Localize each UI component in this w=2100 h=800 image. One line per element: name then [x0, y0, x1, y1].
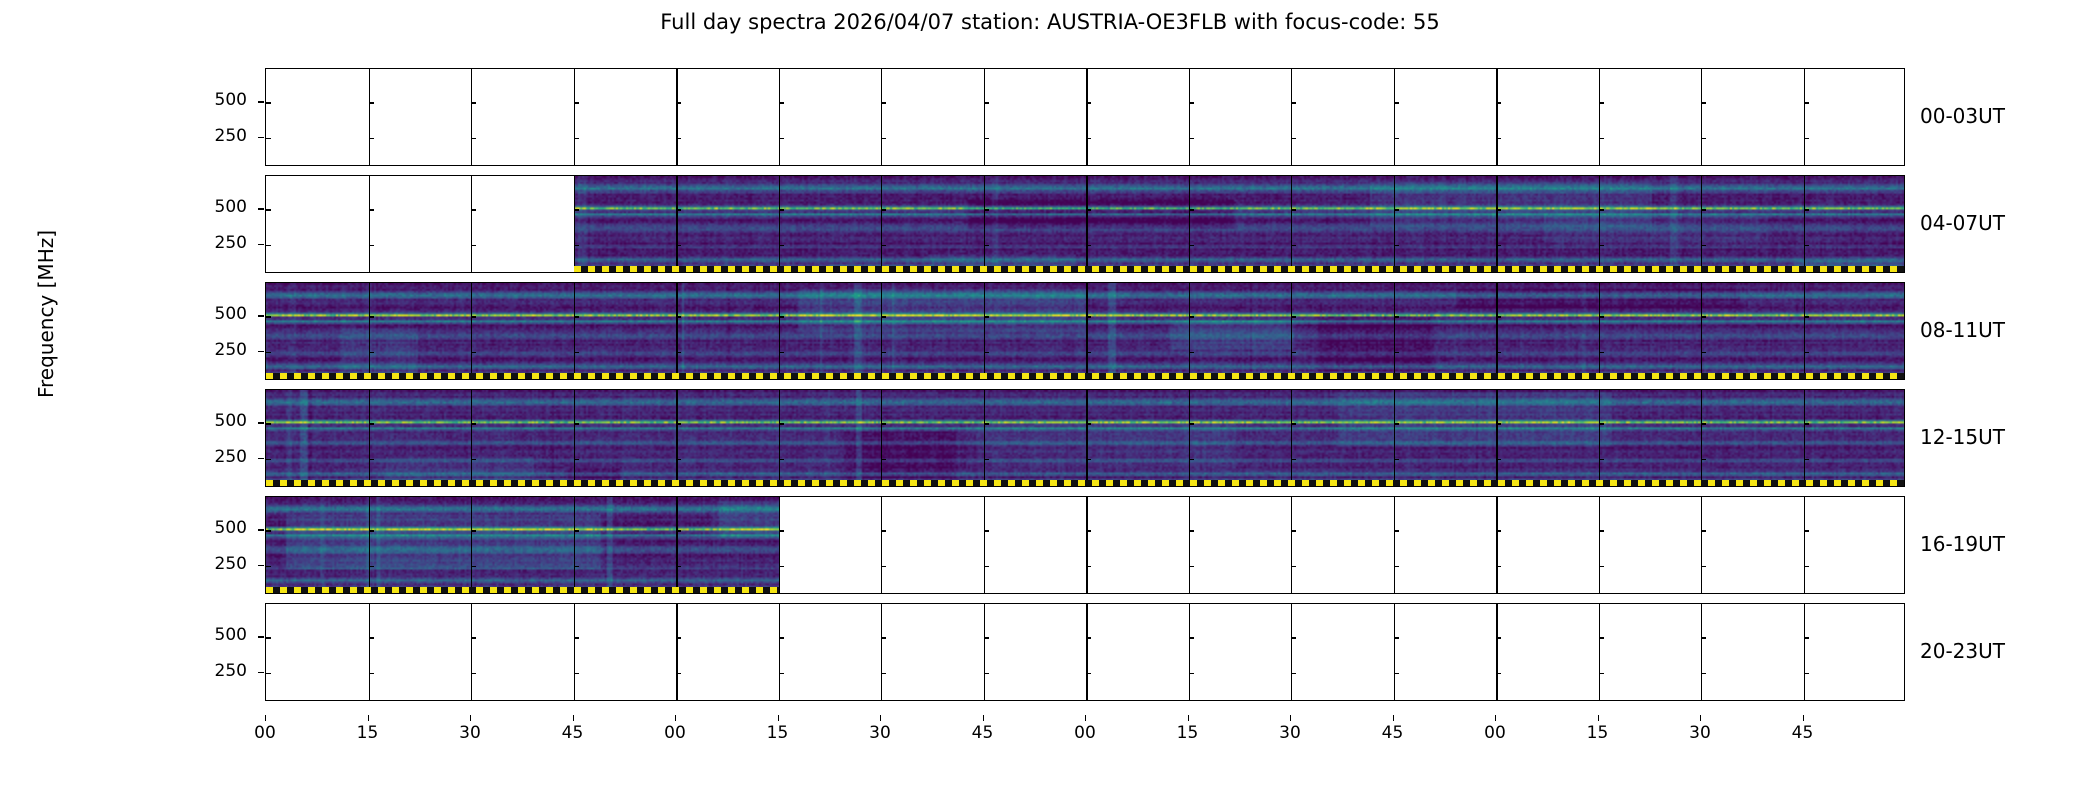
subpanel-separator [1189, 69, 1190, 165]
y-tick-mark [984, 459, 989, 460]
x-axis: 00153045001530450015304500153045 [265, 715, 1905, 755]
subpanel-separator [779, 390, 780, 486]
subpanel-separator [1086, 497, 1088, 593]
subpanel-separator [1291, 283, 1292, 379]
subpanel-separator [1804, 390, 1805, 486]
y-tick-mark [1394, 209, 1399, 210]
spectrogram-row-08-11ut [265, 282, 1905, 380]
subpanel-separator [1394, 604, 1395, 700]
y-tick-label: 250 [187, 340, 247, 360]
y-tick-mark [984, 138, 989, 139]
subpanel-separator [1599, 283, 1600, 379]
y-tick-mark [1496, 530, 1501, 531]
y-tick-mark [369, 423, 374, 424]
y-tick-mark [574, 316, 579, 317]
page-title: Full day spectra 2026/04/07 station: AUS… [0, 10, 2100, 34]
x-tick-mark [368, 715, 369, 721]
subpanel-separator [1701, 176, 1702, 272]
subpanel-separator [881, 497, 882, 593]
y-tick-mark [1086, 102, 1091, 103]
y-tick-mark [1291, 459, 1296, 460]
subpanel-separator [1291, 497, 1292, 593]
y-tick-mark [471, 138, 476, 139]
row-label-04-07ut: 04-07UT [1920, 211, 2005, 235]
y-tick-mark [1804, 138, 1809, 139]
subpanel-separator [1599, 497, 1600, 593]
subpanel-separator [1189, 283, 1190, 379]
subpanel-separator [676, 497, 678, 593]
y-axis-label: Frequency [MHz] [34, 174, 58, 454]
y-tick-mark [266, 673, 271, 674]
y-tick-mark [1701, 673, 1706, 674]
y-tick-mark [1086, 352, 1091, 353]
y-tick-mark [1599, 245, 1604, 246]
y-tick-mark [1394, 245, 1399, 246]
y-tick-mark [1086, 423, 1091, 424]
y-tick-mark [574, 102, 579, 103]
subpanel-separator [1804, 176, 1805, 272]
y-tick-mark [266, 138, 271, 139]
subpanel-separator [881, 390, 882, 486]
y-tick-label: 250 [187, 661, 247, 681]
data-coverage-dashed-strip [574, 266, 1906, 272]
y-tick-mark [1599, 459, 1604, 460]
data-coverage-dashed-strip [266, 480, 1905, 486]
y-tick-mark [881, 459, 886, 460]
subpanel-separator [881, 283, 882, 379]
subpanel-separator [1701, 283, 1702, 379]
y-tick-mark [1291, 352, 1296, 353]
y-tick-mark [1496, 673, 1501, 674]
subpanel-separator [369, 604, 370, 700]
subpanel-separator [984, 604, 985, 700]
x-tick-mark [265, 715, 266, 721]
y-tick-mark [984, 566, 989, 567]
spectrogram-figure: Full day spectra 2026/04/07 station: AUS… [0, 0, 2100, 800]
subpanel-separator [1394, 283, 1395, 379]
subpanel-separator [1189, 497, 1190, 593]
y-tick-mark [1804, 566, 1809, 567]
subpanel-separator [1189, 604, 1190, 700]
subpanel-separator [1496, 283, 1498, 379]
x-tick-label: 45 [1373, 723, 1413, 743]
y-tick-mark [1291, 102, 1296, 103]
subpanel-separator [779, 69, 780, 165]
y-tick-mark [1496, 138, 1501, 139]
subpanel-separator [779, 497, 780, 593]
y-tick-mark [1189, 209, 1194, 210]
subpanel-separator [1291, 604, 1292, 700]
y-tick-mark [1394, 102, 1399, 103]
subpanel-separator [1394, 497, 1395, 593]
y-tick-mark [1701, 245, 1706, 246]
y-tick-mark [881, 102, 886, 103]
y-tick-mark [881, 530, 886, 531]
y-tick-mark [779, 530, 784, 531]
subpanel-separator [574, 390, 575, 486]
y-tick-dash [258, 244, 264, 245]
y-tick-mark [1291, 530, 1296, 531]
x-tick-mark [1393, 715, 1394, 721]
subpanel-separator [1394, 69, 1395, 165]
y-tick-mark [676, 102, 681, 103]
x-tick-label: 30 [1270, 723, 1310, 743]
subpanel-separator [881, 604, 882, 700]
subpanel-separator [1804, 69, 1805, 165]
y-tick-mark [266, 245, 271, 246]
y-tick-mark [1599, 352, 1604, 353]
y-tick-mark [1599, 566, 1604, 567]
y-tick-mark [1599, 423, 1604, 424]
y-tick-dash [258, 351, 264, 352]
subpanel-separator [369, 176, 370, 272]
y-tick-mark [779, 102, 784, 103]
y-tick-mark [676, 459, 681, 460]
subpanel-separator [471, 283, 472, 379]
y-tick-mark [984, 673, 989, 674]
y-tick-mark [676, 566, 681, 567]
subpanel-separator [1701, 604, 1702, 700]
y-tick-mark [984, 245, 989, 246]
y-tick-mark [369, 530, 374, 531]
subpanel-separator [1394, 176, 1395, 272]
subpanel-separator [1804, 604, 1805, 700]
y-tick-label: 250 [187, 554, 247, 574]
x-tick-label: 30 [860, 723, 900, 743]
spectrogram-row-00-03ut [265, 68, 1905, 166]
y-tick-label: 250 [187, 233, 247, 253]
y-tick-mark [369, 352, 374, 353]
subpanel-separator [471, 604, 472, 700]
y-tick-mark [1394, 423, 1399, 424]
y-tick-mark [779, 566, 784, 567]
y-tick-mark [881, 423, 886, 424]
y-tick-mark [471, 673, 476, 674]
subpanel-separator [1701, 69, 1702, 165]
subpanel-separator [779, 283, 780, 379]
y-tick-mark [1394, 566, 1399, 567]
y-tick-mark [1291, 423, 1296, 424]
y-tick-mark [984, 637, 989, 638]
x-tick-label: 15 [758, 723, 798, 743]
y-tick-label: 500 [187, 197, 247, 217]
y-tick-dash [258, 208, 264, 209]
y-tick-mark [1291, 566, 1296, 567]
subpanel-separator [471, 497, 472, 593]
x-tick-label: 45 [1783, 723, 1823, 743]
subpanel-separator [574, 604, 575, 700]
y-tick-mark [266, 637, 271, 638]
y-tick-mark [1394, 637, 1399, 638]
y-tick-mark [779, 316, 784, 317]
subpanel-separator [1496, 69, 1498, 165]
y-tick-mark [471, 459, 476, 460]
y-tick-mark [881, 245, 886, 246]
y-tick-mark [1804, 459, 1809, 460]
y-tick-mark [574, 138, 579, 139]
spectrogram-row-16-19ut [265, 496, 1905, 594]
subpanel-separator [1086, 283, 1088, 379]
y-tick-mark [574, 245, 579, 246]
subpanel-separator [984, 283, 985, 379]
y-tick-mark [471, 637, 476, 638]
y-tick-mark [369, 459, 374, 460]
y-tick-mark [984, 530, 989, 531]
y-tick-mark [676, 423, 681, 424]
subpanel-separator [1291, 69, 1292, 165]
y-tick-mark [881, 566, 886, 567]
y-tick-mark [984, 352, 989, 353]
y-tick-mark [881, 673, 886, 674]
y-tick-mark [471, 530, 476, 531]
subpanel-separator [574, 497, 575, 593]
y-tick-mark [984, 316, 989, 317]
y-tick-mark [1701, 637, 1706, 638]
x-tick-mark [1803, 715, 1804, 721]
y-tick-mark [1701, 459, 1706, 460]
subpanel-separator [471, 176, 472, 272]
subpanel-separator [984, 69, 985, 165]
spectrogram-row-04-07ut [265, 175, 1905, 273]
y-tick-mark [676, 209, 681, 210]
subpanel-separator [1496, 390, 1498, 486]
x-tick-label: 15 [1168, 723, 1208, 743]
y-tick-mark [1086, 459, 1091, 460]
y-tick-mark [779, 423, 784, 424]
y-tick-mark [676, 637, 681, 638]
y-tick-mark [471, 209, 476, 210]
y-tick-mark [1804, 102, 1809, 103]
subpanel-separator [1086, 176, 1088, 272]
y-tick-mark [574, 637, 579, 638]
y-tick-label: 500 [187, 304, 247, 324]
y-tick-mark [369, 209, 374, 210]
y-tick-mark [1189, 566, 1194, 567]
y-tick-dash [258, 137, 264, 138]
subpanel-separator [1189, 390, 1190, 486]
y-tick-mark [1804, 352, 1809, 353]
spectra-canvas [574, 176, 1906, 272]
subpanel-separator [1599, 69, 1600, 165]
y-tick-mark [1189, 316, 1194, 317]
y-tick-mark [1086, 673, 1091, 674]
y-tick-mark [1701, 352, 1706, 353]
row-label-00-03ut: 00-03UT [1920, 104, 2005, 128]
subpanel-separator [574, 69, 575, 165]
y-tick-mark [1701, 566, 1706, 567]
y-tick-mark [1394, 673, 1399, 674]
y-tick-mark [1394, 459, 1399, 460]
y-tick-mark [574, 566, 579, 567]
y-tick-dash [258, 315, 264, 316]
y-tick-mark [574, 209, 579, 210]
y-tick-mark [1701, 530, 1706, 531]
y-tick-mark [369, 566, 374, 567]
x-tick-label: 45 [553, 723, 593, 743]
y-tick-mark [1496, 209, 1501, 210]
x-tick-mark [1290, 715, 1291, 721]
y-tick-mark [779, 637, 784, 638]
y-tick-mark [471, 423, 476, 424]
x-tick-mark [470, 715, 471, 721]
y-tick-mark [1599, 530, 1604, 531]
y-tick-mark [676, 352, 681, 353]
y-tick-mark [1804, 209, 1809, 210]
y-tick-mark [369, 245, 374, 246]
y-tick-mark [1086, 316, 1091, 317]
subpanel-separator [881, 69, 882, 165]
x-tick-mark [1598, 715, 1599, 721]
y-tick-mark [1599, 316, 1604, 317]
y-tick-dash [258, 422, 264, 423]
x-tick-label: 15 [1578, 723, 1618, 743]
y-tick-mark [369, 102, 374, 103]
y-tick-mark [369, 637, 374, 638]
y-tick-mark [1086, 209, 1091, 210]
subpanel-separator [1701, 497, 1702, 593]
y-tick-mark [1804, 245, 1809, 246]
subpanel-separator [1599, 604, 1600, 700]
y-tick-dash [258, 565, 264, 566]
y-tick-mark [471, 245, 476, 246]
subpanel-separator [471, 390, 472, 486]
y-tick-mark [574, 423, 579, 424]
y-tick-mark [779, 352, 784, 353]
subpanel-separator [676, 390, 678, 486]
subpanel-separator [676, 283, 678, 379]
subpanel-separator [1804, 283, 1805, 379]
subpanel-separator [369, 283, 370, 379]
y-tick-label: 250 [187, 126, 247, 146]
x-tick-label: 45 [963, 723, 1003, 743]
row-label-20-23ut: 20-23UT [1920, 639, 2005, 663]
y-tick-mark [1291, 138, 1296, 139]
subpanel-separator [1291, 176, 1292, 272]
y-tick-mark [1496, 423, 1501, 424]
y-tick-mark [881, 209, 886, 210]
y-tick-mark [1394, 352, 1399, 353]
y-tick-mark [1189, 459, 1194, 460]
y-tick-mark [1496, 102, 1501, 103]
y-tick-mark [779, 209, 784, 210]
spectra-canvas [266, 497, 779, 593]
y-tick-mark [1086, 530, 1091, 531]
subpanel-separator [369, 390, 370, 486]
y-tick-mark [471, 352, 476, 353]
y-tick-mark [1804, 316, 1809, 317]
y-tick-mark [676, 316, 681, 317]
y-tick-mark [266, 423, 271, 424]
x-tick-mark [880, 715, 881, 721]
subpanel-separator [881, 176, 882, 272]
y-tick-mark [1394, 530, 1399, 531]
y-tick-dash [258, 458, 264, 459]
row-label-16-19ut: 16-19UT [1920, 532, 2005, 556]
x-tick-mark [983, 715, 984, 721]
y-tick-mark [1599, 138, 1604, 139]
y-tick-label: 500 [187, 90, 247, 110]
y-tick-dash [258, 529, 264, 530]
y-tick-mark [1189, 530, 1194, 531]
subpanel-separator [369, 69, 370, 165]
y-tick-mark [1496, 459, 1501, 460]
y-tick-mark [1291, 209, 1296, 210]
data-coverage-dashed-strip [266, 587, 779, 593]
y-tick-mark [1599, 673, 1604, 674]
x-tick-mark [778, 715, 779, 721]
y-tick-mark [1701, 102, 1706, 103]
y-tick-mark [369, 138, 374, 139]
y-tick-mark [1599, 102, 1604, 103]
y-tick-mark [1804, 530, 1809, 531]
y-tick-mark [1599, 209, 1604, 210]
subpanel-separator [574, 176, 575, 272]
y-tick-mark [574, 530, 579, 531]
y-tick-dash [258, 636, 264, 637]
y-tick-mark [1496, 637, 1501, 638]
y-tick-mark [1496, 245, 1501, 246]
y-tick-mark [1086, 138, 1091, 139]
y-tick-label: 500 [187, 518, 247, 538]
x-tick-mark [1700, 715, 1701, 721]
y-tick-dash [258, 672, 264, 673]
x-tick-mark [675, 715, 676, 721]
y-tick-mark [1189, 423, 1194, 424]
y-tick-mark [1496, 316, 1501, 317]
y-tick-mark [984, 102, 989, 103]
y-tick-mark [574, 352, 579, 353]
subpanel-separator [1701, 390, 1702, 486]
y-tick-mark [266, 352, 271, 353]
subpanel-separator [1189, 176, 1190, 272]
subpanel-separator [1804, 497, 1805, 593]
y-tick-mark [266, 316, 271, 317]
y-tick-mark [881, 316, 886, 317]
subpanel-separator [1496, 604, 1498, 700]
y-tick-mark [676, 245, 681, 246]
subpanel-separator [1496, 497, 1498, 593]
subpanel-separator [984, 176, 985, 272]
y-tick-mark [369, 673, 374, 674]
y-tick-mark [1189, 245, 1194, 246]
y-tick-mark [1599, 637, 1604, 638]
y-tick-mark [881, 637, 886, 638]
y-tick-mark [266, 566, 271, 567]
x-tick-mark [573, 715, 574, 721]
y-tick-mark [1291, 673, 1296, 674]
y-tick-mark [779, 138, 784, 139]
subpanel-separator [984, 497, 985, 593]
y-tick-mark [1086, 245, 1091, 246]
y-tick-mark [1701, 138, 1706, 139]
y-tick-mark [1701, 423, 1706, 424]
subpanel-separator [1394, 390, 1395, 486]
y-tick-mark [881, 352, 886, 353]
y-tick-mark [1804, 423, 1809, 424]
spectra-data [266, 497, 779, 593]
x-tick-label: 00 [655, 723, 695, 743]
spectrogram-row-20-23ut [265, 603, 1905, 701]
x-tick-label: 00 [1065, 723, 1105, 743]
subpanel-separator [574, 283, 575, 379]
subpanel-separator [779, 604, 780, 700]
subpanel-separator [1599, 390, 1600, 486]
subpanel-separator [1599, 176, 1600, 272]
subpanel-separator [1086, 604, 1088, 700]
y-tick-mark [369, 316, 374, 317]
y-tick-mark [1496, 566, 1501, 567]
x-tick-label: 30 [1680, 723, 1720, 743]
